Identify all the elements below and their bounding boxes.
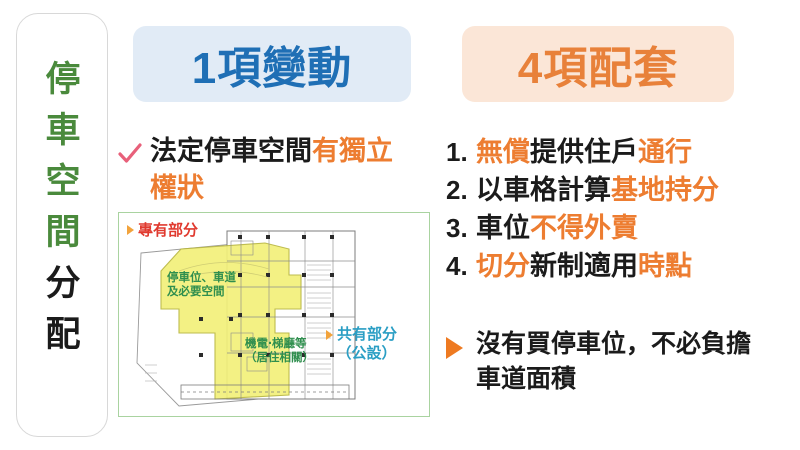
list-item: 4. 切分新制適用時點 <box>446 247 786 285</box>
left-bullet-black-part: 法定停車空間 <box>150 136 312 166</box>
list-item-seg: 車位 <box>476 213 530 243</box>
plan-label-exclusive-line2: 及必要空間 <box>167 285 236 299</box>
list-item-text: 車位不得外賣 <box>476 209 638 247</box>
legend-private-portion: 專有部分 <box>127 219 198 240</box>
legend-common-label-line2: （公設） <box>326 344 397 363</box>
list-item-text: 以車格計算基地持分 <box>476 171 719 209</box>
list-item: 3. 車位不得外賣 <box>446 209 786 247</box>
triangle-right-icon <box>446 337 463 359</box>
list-item-seg: 切分 <box>476 251 530 281</box>
header-left-change: 1項變動 <box>133 26 411 102</box>
list-item-seg: 新制適用 <box>530 251 638 281</box>
list-item-seg: 無償 <box>476 137 530 167</box>
plan-label-common-line1: 機電‧梯廳等 <box>245 337 314 351</box>
plan-label-common-area: 機電‧梯廳等 （居住相關） <box>245 337 314 365</box>
page-title-black-part: 分配 <box>17 258 109 360</box>
measures-list: 1. 無償提供住戶通行 2. 以車格計算基地持分 3. 車位不得外賣 4. 切分… <box>446 133 786 285</box>
summary-note-text: 沒有買停車位，不必負擔 車道面積 <box>476 327 796 397</box>
legend-common-label-line1: 共有部分 <box>337 325 397 344</box>
sidebar-title-card: 停車空間 分配 <box>16 13 108 437</box>
list-item: 1. 無償提供住戶通行 <box>446 133 786 171</box>
triangle-right-icon <box>326 330 333 340</box>
summary-note-line1: 沒有買停車位，不必負擔 <box>476 327 796 362</box>
legend-common-portion: 共有部分 （公設） <box>326 325 397 363</box>
list-item-seg: 以車格計算 <box>476 175 611 205</box>
list-item-number: 1. <box>446 133 476 171</box>
plan-label-common-line2: （居住相關） <box>245 351 314 365</box>
list-item-seg: 基地持分 <box>611 175 719 205</box>
list-item: 2. 以車格計算基地持分 <box>446 171 786 209</box>
header-right-measures: 4項配套 <box>462 26 734 102</box>
page-title-vertical: 停車空間 分配 <box>17 54 109 360</box>
list-item-seg: 通行 <box>638 137 692 167</box>
list-item-seg: 不得外賣 <box>530 213 638 243</box>
list-item-text: 無償提供住戶通行 <box>476 133 692 171</box>
page-title-green-part: 停車空間 <box>17 54 109 258</box>
list-item-text: 切分新制適用時點 <box>476 247 692 285</box>
left-bullet-text: 法定停車空間有獨立權狀 <box>150 133 418 207</box>
floor-plan-drawing <box>119 213 429 416</box>
list-item-number: 3. <box>446 209 476 247</box>
plan-label-exclusive-line1: 停車位、車道 <box>167 271 236 285</box>
floor-plan-panel: 停車位、車道 及必要空間 機電‧梯廳等 （居住相關） 專有部分 共有部分 （公設… <box>118 212 430 417</box>
check-icon <box>117 141 143 167</box>
triangle-right-icon <box>127 225 134 235</box>
plan-label-exclusive-area: 停車位、車道 及必要空間 <box>167 271 236 299</box>
summary-note-line2: 車道面積 <box>476 362 796 397</box>
list-item-number: 2. <box>446 171 476 209</box>
list-item-seg: 時點 <box>638 251 692 281</box>
legend-private-label: 專有部分 <box>138 219 198 240</box>
list-item-seg: 提供住戶 <box>530 137 638 167</box>
list-item-number: 4. <box>446 247 476 285</box>
